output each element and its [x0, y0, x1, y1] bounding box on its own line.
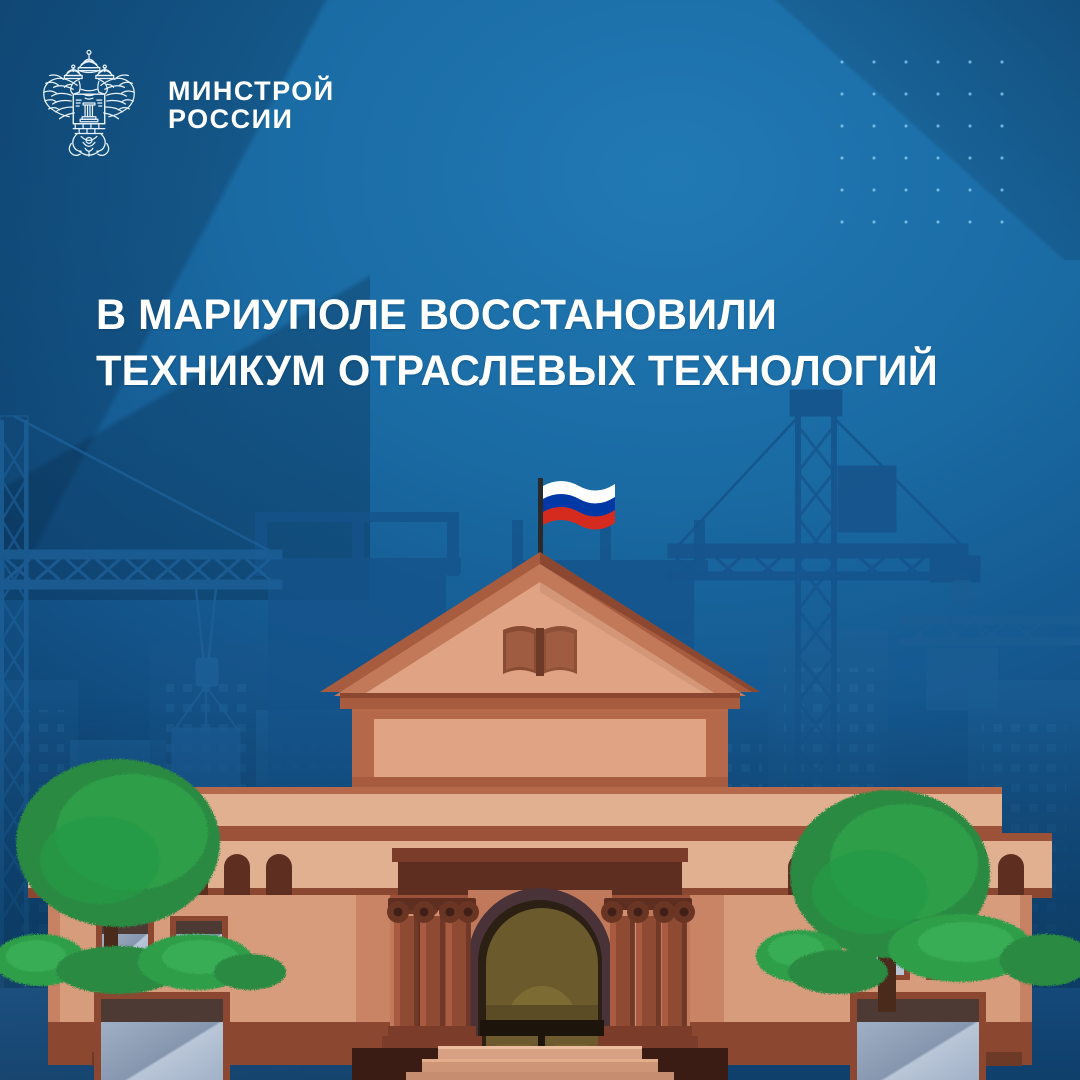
- title-line-1: В МАРИУПОЛЕ ВОССТАНОВИЛИ: [96, 288, 988, 344]
- brand-line-1: МИНСТРОЙ: [168, 77, 335, 105]
- title-line-2: ТЕХНИКУМ ОТРАСЛЕВЫХ ТЕХНОЛОГИЙ: [96, 344, 988, 400]
- ministry-logo-lockup: МИНСТРОЙ РОССИИ: [30, 46, 335, 164]
- portico-columns: [0, 460, 1080, 1080]
- page-title: В МАРИУПОЛЕ ВОССТАНОВИЛИ ТЕХНИКУМ ОТРАСЛ…: [96, 288, 1016, 400]
- dot-grid-pattern: [822, 42, 1014, 234]
- double-headed-eagle-emblem: [30, 46, 148, 164]
- ministry-name: МИНСТРОЙ РОССИИ: [168, 77, 335, 133]
- brand-line-2: РОССИИ: [168, 105, 335, 133]
- poster-canvas: МИНСТРОЙ РОССИИ В МАРИУПОЛЕ ВОССТАНОВИЛИ…: [0, 0, 1080, 1080]
